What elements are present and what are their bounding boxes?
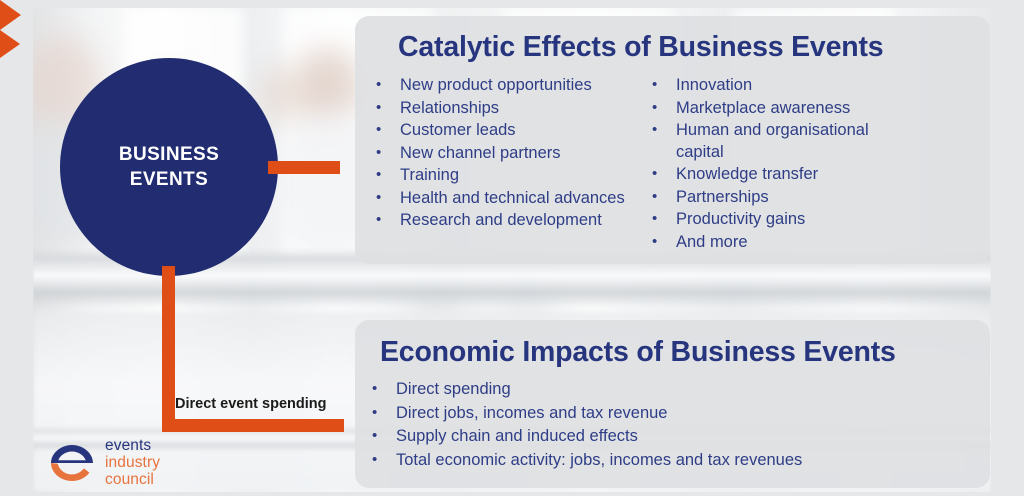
- catalytic-effects-list-left: New product opportunities Relationships …: [372, 75, 634, 233]
- list-item: Knowledge transfer: [648, 164, 918, 186]
- list-item: Customer leads: [372, 120, 634, 142]
- economic-impacts-list: Direct spending Direct jobs, incomes and…: [368, 379, 968, 473]
- events-industry-council-e-mark-icon: [48, 439, 96, 487]
- list-item: Supply chain and induced effects: [368, 426, 968, 448]
- economic-impacts-title: Economic Impacts of Business Events: [380, 336, 896, 369]
- catalytic-arrow-shaft: [268, 161, 340, 174]
- logo-wordmark: events industry council: [105, 437, 160, 488]
- logo-line-2: industry: [105, 454, 160, 471]
- economic-arrow-horizontal-shaft: [162, 419, 344, 432]
- list-item: Partnerships: [648, 187, 918, 209]
- list-item: New product opportunities: [372, 75, 634, 97]
- list-item: Health and technical advances: [372, 188, 634, 210]
- direct-event-spending-label: Direct event spending: [175, 396, 326, 412]
- list-item: Research and development: [372, 210, 634, 232]
- list-item: Direct spending: [368, 379, 968, 401]
- list-item: Direct jobs, incomes and tax revenue: [368, 403, 968, 425]
- logo-line-3: council: [105, 471, 160, 488]
- hub-label-line-2: EVENTS: [130, 169, 208, 190]
- catalytic-effects-title: Catalytic Effects of Business Events: [398, 31, 883, 64]
- business-events-hub-label: BUSINESS EVENTS: [119, 142, 219, 192]
- catalytic-arrow-head-icon: [0, 0, 21, 30]
- list-item: And more: [648, 232, 918, 254]
- list-item: Innovation: [648, 75, 918, 97]
- list-item: New channel partners: [372, 143, 634, 165]
- catalytic-effects-list-right: Innovation Marketplace awareness Human a…: [648, 75, 918, 254]
- economic-arrow-vertical-shaft: [162, 266, 175, 432]
- list-item: Total economic activity: jobs, incomes a…: [368, 450, 968, 472]
- hub-label-line-1: BUSINESS: [119, 144, 219, 165]
- list-item: Relationships: [372, 98, 634, 120]
- logo-line-1: events: [105, 437, 160, 454]
- list-item: Training: [372, 165, 634, 187]
- list-item: Human and organisational capital: [648, 120, 918, 163]
- list-item: Marketplace awareness: [648, 98, 918, 120]
- events-industry-council-logo: events industry council: [48, 437, 160, 488]
- photo-person-4-head: [259, 66, 305, 122]
- list-item: Productivity gains: [648, 209, 918, 231]
- infographic-canvas: BUSINESS EVENTS Direct event spending Ca…: [0, 0, 1024, 496]
- economic-arrow-head-icon: [0, 30, 20, 58]
- business-events-hub[interactable]: BUSINESS EVENTS: [60, 58, 278, 276]
